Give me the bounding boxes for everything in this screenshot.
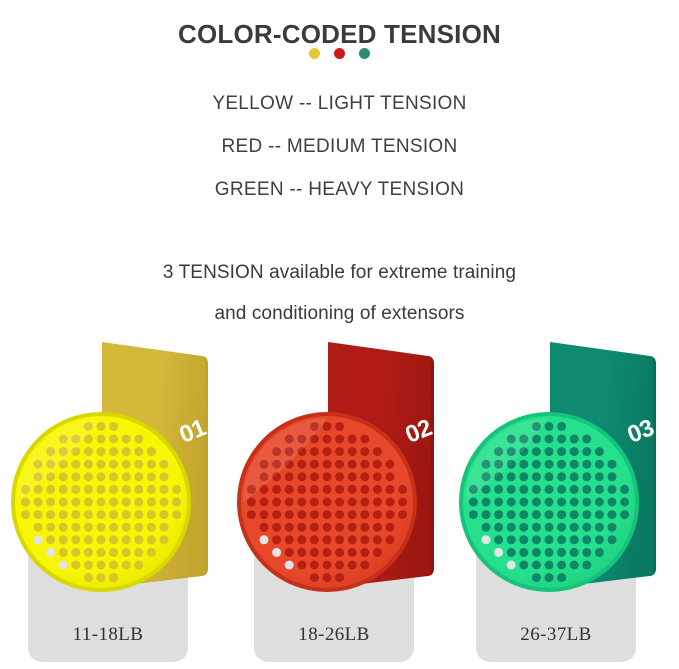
legend-dot-row [0, 48, 679, 59]
tension-legend-item-green: GREEN -- HEAVY TENSION [0, 168, 679, 211]
red-dot [334, 48, 345, 59]
tension-disc [457, 410, 642, 595]
product-tension-label: 26-37LB [476, 624, 636, 646]
product-card-green: 0326-37LB [450, 336, 676, 669]
tension-legend-list: YELLOW -- LIGHT TENSION RED -- MEDIUM TE… [0, 82, 679, 211]
description-block: 3 TENSION available for extreme training… [0, 252, 679, 334]
tension-disc [9, 410, 194, 595]
green-dot [359, 48, 370, 59]
product-card-red: 0218-26LB [228, 336, 454, 669]
page-title: COLOR-CODED TENSION [0, 19, 679, 50]
description-line-1: 3 TENSION available for extreme training [0, 252, 679, 293]
description-line-2: and conditioning of extensors [0, 293, 679, 334]
tension-legend-item-yellow: YELLOW -- LIGHT TENSION [0, 82, 679, 125]
product-tension-label: 18-26LB [254, 624, 414, 646]
tension-legend-item-red: RED -- MEDIUM TENSION [0, 125, 679, 168]
product-card-yellow: 0111-18LB [2, 336, 228, 669]
yellow-dot [309, 48, 320, 59]
tension-disc [235, 410, 420, 595]
product-row: 0111-18LB0218-26LB0326-37LB [0, 336, 679, 669]
product-tension-label: 11-18LB [28, 624, 188, 646]
